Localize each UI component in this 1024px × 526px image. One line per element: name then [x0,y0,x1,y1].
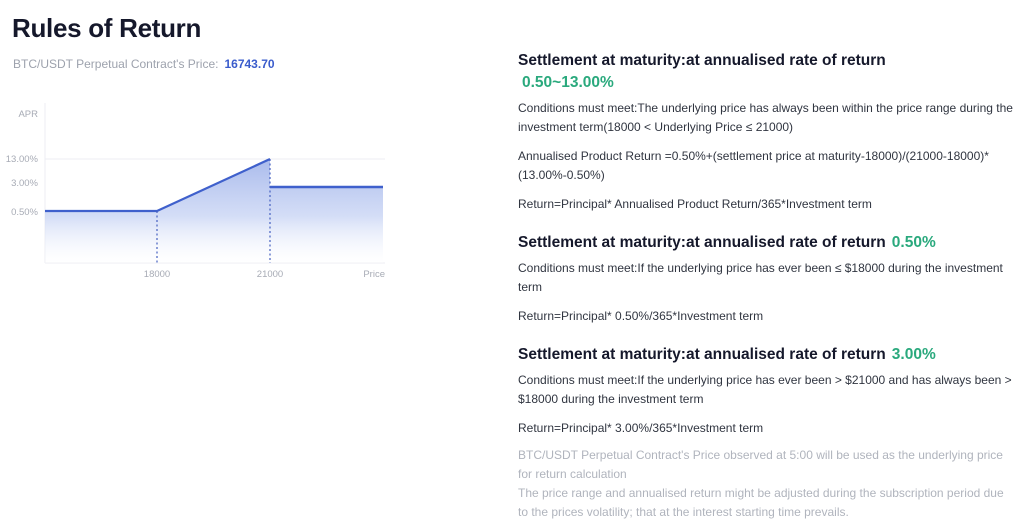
left-column: Rules of Return BTC/USDT Perpetual Contr… [0,0,500,526]
rule-heading-range: Settlement at maturity:at annualised rat… [518,50,1013,93]
rule-heading-text-below-low: Settlement at maturity:at annualised rat… [518,234,886,251]
y-tick-13pct: 13.00% [6,154,39,165]
rule-block-above-high: Settlement at maturity:at annualised rat… [518,344,1013,438]
rule-return-below-low: Return=Principal* 0.50%/365*Investment t… [518,307,1013,326]
rule-block-range: Settlement at maturity:at annualised rat… [518,50,1013,214]
rule-heading-above-high: Settlement at maturity:at annualised rat… [518,344,1013,365]
rule-heading-text-range: Settlement at maturity:at annualised rat… [518,52,886,69]
footnote-observation-time: BTC/USDT Perpetual Contract's Price obse… [518,446,1013,484]
y-axis-title: APR [18,109,38,120]
rule-formula-range: Annualised Product Return =0.50%+(settle… [518,147,1013,185]
rule-block-below-low: Settlement at maturity:at annualised rat… [518,232,1013,326]
rules-of-return-page: Rules of Return BTC/USDT Perpetual Contr… [0,0,1024,526]
chart-svg: APR 13.00% 3.00% 0.50% 18000 21000 Price [0,95,420,290]
underlying-price-row: BTC/USDT Perpetual Contract's Price:1674… [13,56,275,72]
rule-heading-text-above-high: Settlement at maturity:at annualised rat… [518,346,886,363]
rule-condition-range: Conditions must meet:The underlying pric… [518,99,1013,137]
rule-return-range: Return=Principal* Annualised Product Ret… [518,195,1013,214]
apr-vs-price-chart: APR 13.00% 3.00% 0.50% 18000 21000 Price [0,95,420,290]
y-tick-3pct: 3.00% [11,178,38,189]
rule-condition-above-high: Conditions must meet:If the underlying p… [518,371,1013,409]
rule-rate-range: 0.50~13.00% [522,72,1013,93]
rule-return-above-high: Return=Principal* 3.00%/365*Investment t… [518,419,1013,438]
x-axis-title: Price [363,269,385,280]
underlying-price-label: BTC/USDT Perpetual Contract's Price: [13,57,218,71]
rule-heading-below-low: Settlement at maturity:at annualised rat… [518,232,1013,253]
rule-rate-above-high: 3.00% [892,346,936,363]
footnote-adjustment-notice: The price range and annualised return mi… [518,484,1013,522]
rule-rate-below-low: 0.50% [892,234,936,251]
x-tick-21000: 21000 [257,269,283,280]
page-title: Rules of Return [12,12,201,44]
y-tick-0-5pct: 0.50% [11,207,38,218]
x-tick-18000: 18000 [144,269,170,280]
footnotes: BTC/USDT Perpetual Contract's Price obse… [518,446,1013,522]
rules-column: Settlement at maturity:at annualised rat… [518,50,1013,456]
rule-condition-below-low: Conditions must meet:If the underlying p… [518,259,1013,297]
underlying-price-value: 16743.70 [224,57,274,71]
